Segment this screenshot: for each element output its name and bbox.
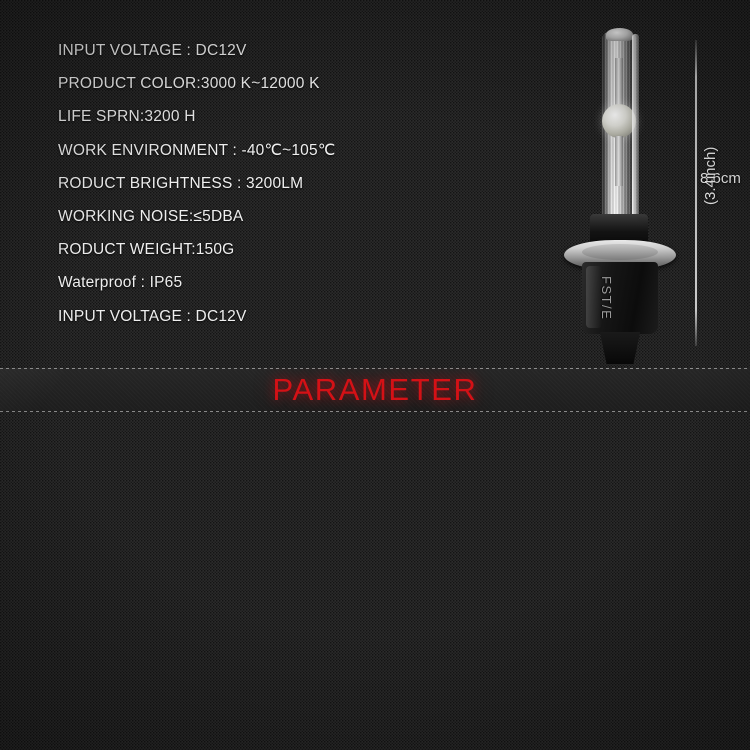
bulb-spec-list: INPUT VOLTAGE : DC12V PRODUCT COLOR:3000… bbox=[58, 34, 335, 333]
spec-line: INPUT VOLTAGE : DC12V bbox=[58, 34, 335, 67]
bulb-measure-line bbox=[695, 40, 697, 346]
bulb-brand-text: FST/E bbox=[599, 276, 614, 320]
banner-title: PARAMETER bbox=[272, 372, 477, 408]
bulb-electrode-lower bbox=[615, 136, 623, 186]
spec-line: RODUCT BRIGHTNESS : 3200LM bbox=[58, 167, 335, 200]
bulb-flange-inner-ring bbox=[582, 244, 658, 260]
hid-bulb-image: FST/E bbox=[540, 18, 700, 363]
spec-line: Waterproof : IP65 bbox=[58, 266, 335, 299]
spec-line: PRODUCT COLOR:3000 K~12000 K bbox=[58, 67, 335, 100]
bulb-base-tail bbox=[596, 332, 644, 364]
spec-line: LIFE SPRN:3200 H bbox=[58, 100, 335, 133]
spec-line: RODUCT WEIGHT:150G bbox=[58, 233, 335, 266]
parameter-banner: PARAMETER bbox=[0, 368, 750, 412]
product-spec-image: INPUT VOLTAGE : DC12V PRODUCT COLOR:3000… bbox=[0, 0, 750, 750]
banner-top-divider bbox=[0, 368, 750, 369]
spec-line: WORK ENVIRONMENT : -40℃~105℃ bbox=[58, 134, 335, 167]
spec-line: INPUT VOLTAGE : DC12V bbox=[58, 300, 335, 333]
bulb-tube-highlight bbox=[632, 34, 639, 230]
ballast-spec-panel: Output CURRENT : DC Models available : a… bbox=[0, 412, 750, 750]
bulb-arc-capsule bbox=[602, 104, 636, 138]
spec-line: WORKING NOISE:≤5DBA bbox=[58, 200, 335, 233]
bulb-tube-cap bbox=[606, 28, 633, 41]
bulb-measure-inch: (3.4inch) bbox=[702, 147, 719, 205]
bulb-electrode-upper bbox=[615, 58, 623, 106]
bulb-spec-panel: INPUT VOLTAGE : DC12V PRODUCT COLOR:3000… bbox=[0, 0, 750, 368]
